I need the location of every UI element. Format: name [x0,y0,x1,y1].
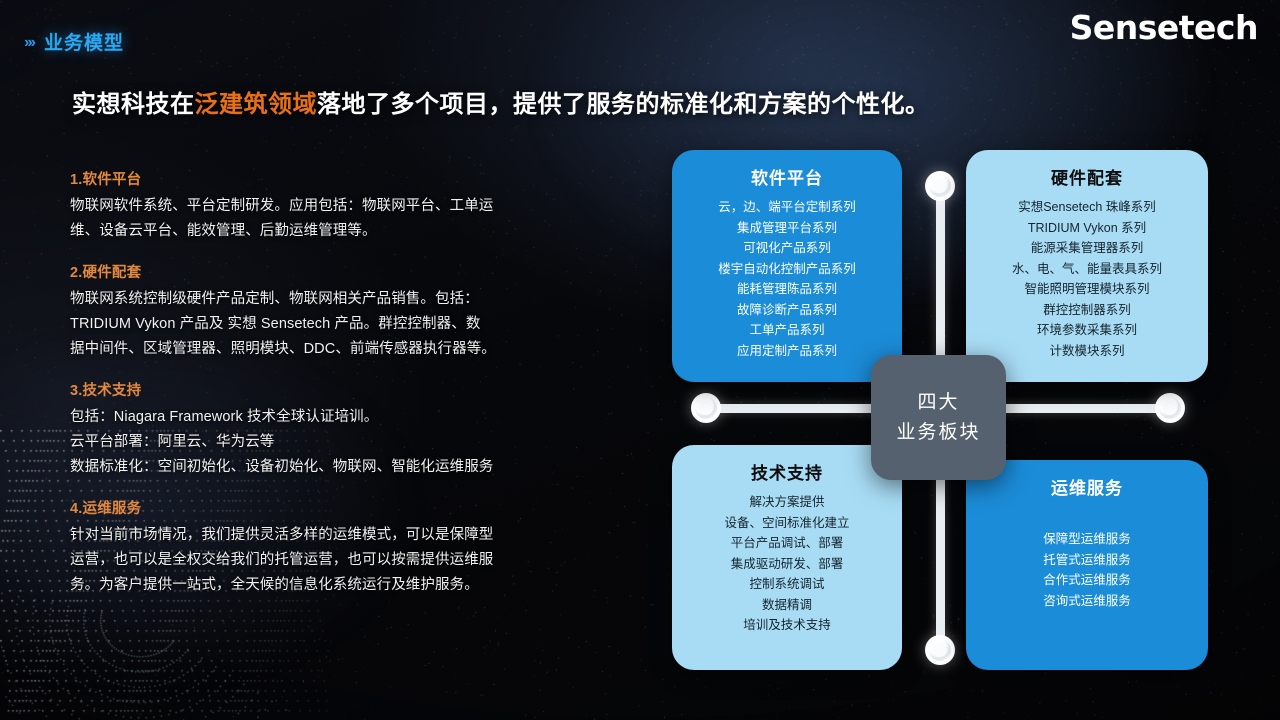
pillar-panel-item: 咨询式运维服务 [976,591,1198,612]
left-section-line: 针对当前市场情况，我们提供灵活多样的运维模式，可以是保障型 [70,523,560,548]
left-section-line: 运营，也可以是全权交给我们的托管运营，也可以按需提供运维服 [70,548,560,573]
pillar-panel-item: 能耗管理陈品系列 [682,279,892,300]
left-section-line: 包括：Niagara Framework 技术全球认证培训。 [70,405,560,430]
pillar-panel-item: 应用定制产品系列 [682,341,892,362]
left-section-title: 4.运维服务 [70,497,560,518]
pillar-panel-item: 智能照明管理模块系列 [976,279,1198,300]
connector-top [936,186,945,376]
left-section-line: 云平台部署：阿里云、华为云等 [70,430,560,455]
pillar-panel-item: 培训及技术支持 [682,615,892,636]
pillar-panel-item: 控制系统调试 [682,574,892,595]
pillar-panel-item: 数据精调 [682,595,892,616]
pillar-panel-spacer [976,507,1198,529]
left-section-line: 据中间件、区域管理器、照明模块、DDC、前端传感器执行器等。 [70,337,560,362]
pillar-panel-item: TRIDIUM Vykon 系列 [976,218,1198,239]
left-section-title: 2.硬件配套 [70,261,560,282]
pillar-panel-item: 合作式运维服务 [976,570,1198,591]
left-section-line: 物联网系统控制级硬件产品定制、物联网相关产品销售。包括： [70,287,560,312]
pillar-panel-item: 能源采集管理器系列 [976,238,1198,259]
pillar-panel-item: 解决方案提供 [682,492,892,513]
pillar-panel-item: 故障诊断产品系列 [682,300,892,321]
left-section-line: TRIDIUM Vykon 产品及 实想 Sensetech 产品。群控控制器、… [70,312,560,337]
pillar-panel-item: 设备、空间标准化建立 [682,513,892,534]
pillar-panel-item: 集成管理平台系列 [682,218,892,239]
pillar-panel-item: 集成驱动研发、部署 [682,554,892,575]
pillar-panel-item: 托管式运维服务 [976,550,1198,571]
section-kicker: ››› 业务模型 [24,28,124,55]
left-section-line: 维、设备云平台、能效管理、后勤运维管理等。 [70,219,560,244]
connector-left [706,404,896,413]
left-section: 3.技术支持包括：Niagara Framework 技术全球认证培训。云平台部… [70,379,560,480]
left-section: 2.硬件配套物联网系统控制级硬件产品定制、物联网相关产品销售。包括：TRIDIU… [70,261,560,362]
four-pillars-diagram: 软件平台云，边、端平台定制系列集成管理平台系列可视化产品系列楼宇自动化控制产品系… [660,140,1220,680]
headline-highlight: 泛建筑领域 [195,91,318,118]
left-section: 4.运维服务针对当前市场情况，我们提供灵活多样的运维模式，可以是保障型运营，也可… [70,497,560,598]
node-right [1155,393,1185,423]
left-section-line: 数据标准化：空间初始化、设备初始化、物联网、智能化运维服务 [70,455,560,480]
connector-right [980,404,1170,413]
left-section-title: 3.技术支持 [70,379,560,400]
pillar-panel-item: 楼宇自动化控制产品系列 [682,259,892,280]
center-line-2: 业务板块 [896,418,980,448]
node-bottom [925,635,955,665]
brand-logo: Sensetech [1070,8,1258,47]
left-text-column: 1.软件平台物联网软件系统、平台定制研发。应用包括：物联网平台、工单运维、设备云… [70,168,560,615]
node-left [691,393,721,423]
node-top [925,171,955,201]
headline-part-2: 落地了多个项目，提供了服务的标准化和方案的个性化。 [317,91,930,118]
left-section: 1.软件平台物联网软件系统、平台定制研发。应用包括：物联网平台、工单运维、设备云… [70,168,560,244]
pillar-panel-item: 工单产品系列 [682,320,892,341]
diagram-center-badge: 四大 业务板块 [871,355,1006,480]
pillar-panel-software-platform[interactable]: 软件平台云，边、端平台定制系列集成管理平台系列可视化产品系列楼宇自动化控制产品系… [672,150,902,382]
pillar-panel-tech-support[interactable]: 技术支持解决方案提供设备、空间标准化建立平台产品调试、部署集成驱动研发、部署控制… [672,445,902,670]
pillar-panel-item: 群控控制器系列 [976,300,1198,321]
page-title: 实想科技在泛建筑领域落地了多个项目，提供了服务的标准化和方案的个性化。 [72,84,930,119]
pillar-panel-item: 实想Sensetech 珠峰系列 [976,197,1198,218]
left-section-title: 1.软件平台 [70,168,560,189]
pillar-panel-item: 平台产品调试、部署 [682,533,892,554]
chevrons-right-icon: ››› [24,35,34,51]
pillar-panel-title: 硬件配套 [976,164,1198,189]
left-section-line: 物联网软件系统、平台定制研发。应用包括：物联网平台、工单运 [70,194,560,219]
pillar-panel-title: 运维服务 [976,474,1198,499]
pillar-panel-item: 水、电、气、能量表具系列 [976,259,1198,280]
pillar-panel-item: 云，边、端平台定制系列 [682,197,892,218]
center-line-1: 四大 [917,388,959,418]
pillar-panel-hardware-kit[interactable]: 硬件配套实想Sensetech 珠峰系列TRIDIUM Vykon 系列能源采集… [966,150,1208,382]
pillar-panel-title: 软件平台 [682,164,892,189]
pillar-panel-item: 保障型运维服务 [976,529,1198,550]
section-kicker-label: 业务模型 [44,28,124,55]
pillar-panel-title: 技术支持 [682,459,892,484]
pillar-panel-item: 可视化产品系列 [682,238,892,259]
pillar-panel-item: 环境参数采集系列 [976,320,1198,341]
connector-bottom [936,460,945,650]
pillar-panel-ops-service[interactable]: 运维服务保障型运维服务托管式运维服务合作式运维服务咨询式运维服务 [966,460,1208,670]
headline-part-1: 实想科技在 [72,91,195,118]
pillar-panel-item: 计数模块系列 [976,341,1198,362]
left-section-line: 务。为客户提供一站式，全天候的信息化系统运行及维护服务。 [70,573,560,598]
